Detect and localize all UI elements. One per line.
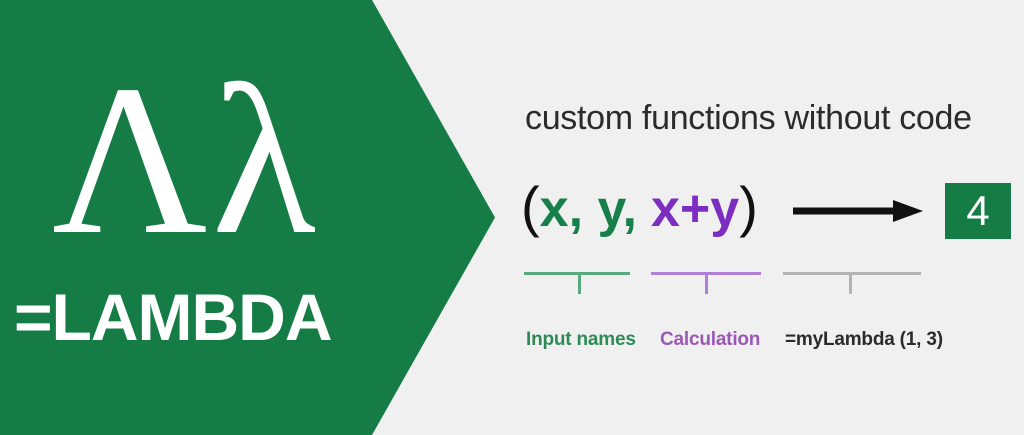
close-paren: ) [739, 175, 758, 238]
connector-tick [849, 272, 852, 294]
connector-tick [578, 272, 581, 294]
result-value-chip: 4 [945, 183, 1011, 239]
caption-invocation: =myLambda (1, 3) [785, 328, 943, 352]
infographic-canvas: Λλ =LAMBDA custom functions without code… [0, 0, 1024, 435]
lambda-logo-glyphs: Λλ [0, 52, 372, 267]
formula-calculation: x+y [651, 180, 739, 238]
lambda-wordmark: =LAMBDA [14, 282, 332, 352]
connector-tick [705, 272, 708, 294]
connector-bar [524, 272, 630, 275]
caption-calculation: Calculation [660, 328, 760, 352]
connector-bar [783, 272, 921, 275]
open-paren: ( [521, 175, 540, 238]
lowercase-lambda-glyph: λ [212, 40, 320, 279]
arrow-right-icon [793, 198, 923, 224]
formula-expression: (x, y,x+y) [521, 176, 758, 240]
formula-input-names: x, y, [540, 180, 637, 238]
caption-input-names: Input names [526, 328, 636, 352]
headline-text: custom functions without code [525, 98, 972, 138]
uppercase-lambda-glyph: Λ [52, 40, 212, 279]
